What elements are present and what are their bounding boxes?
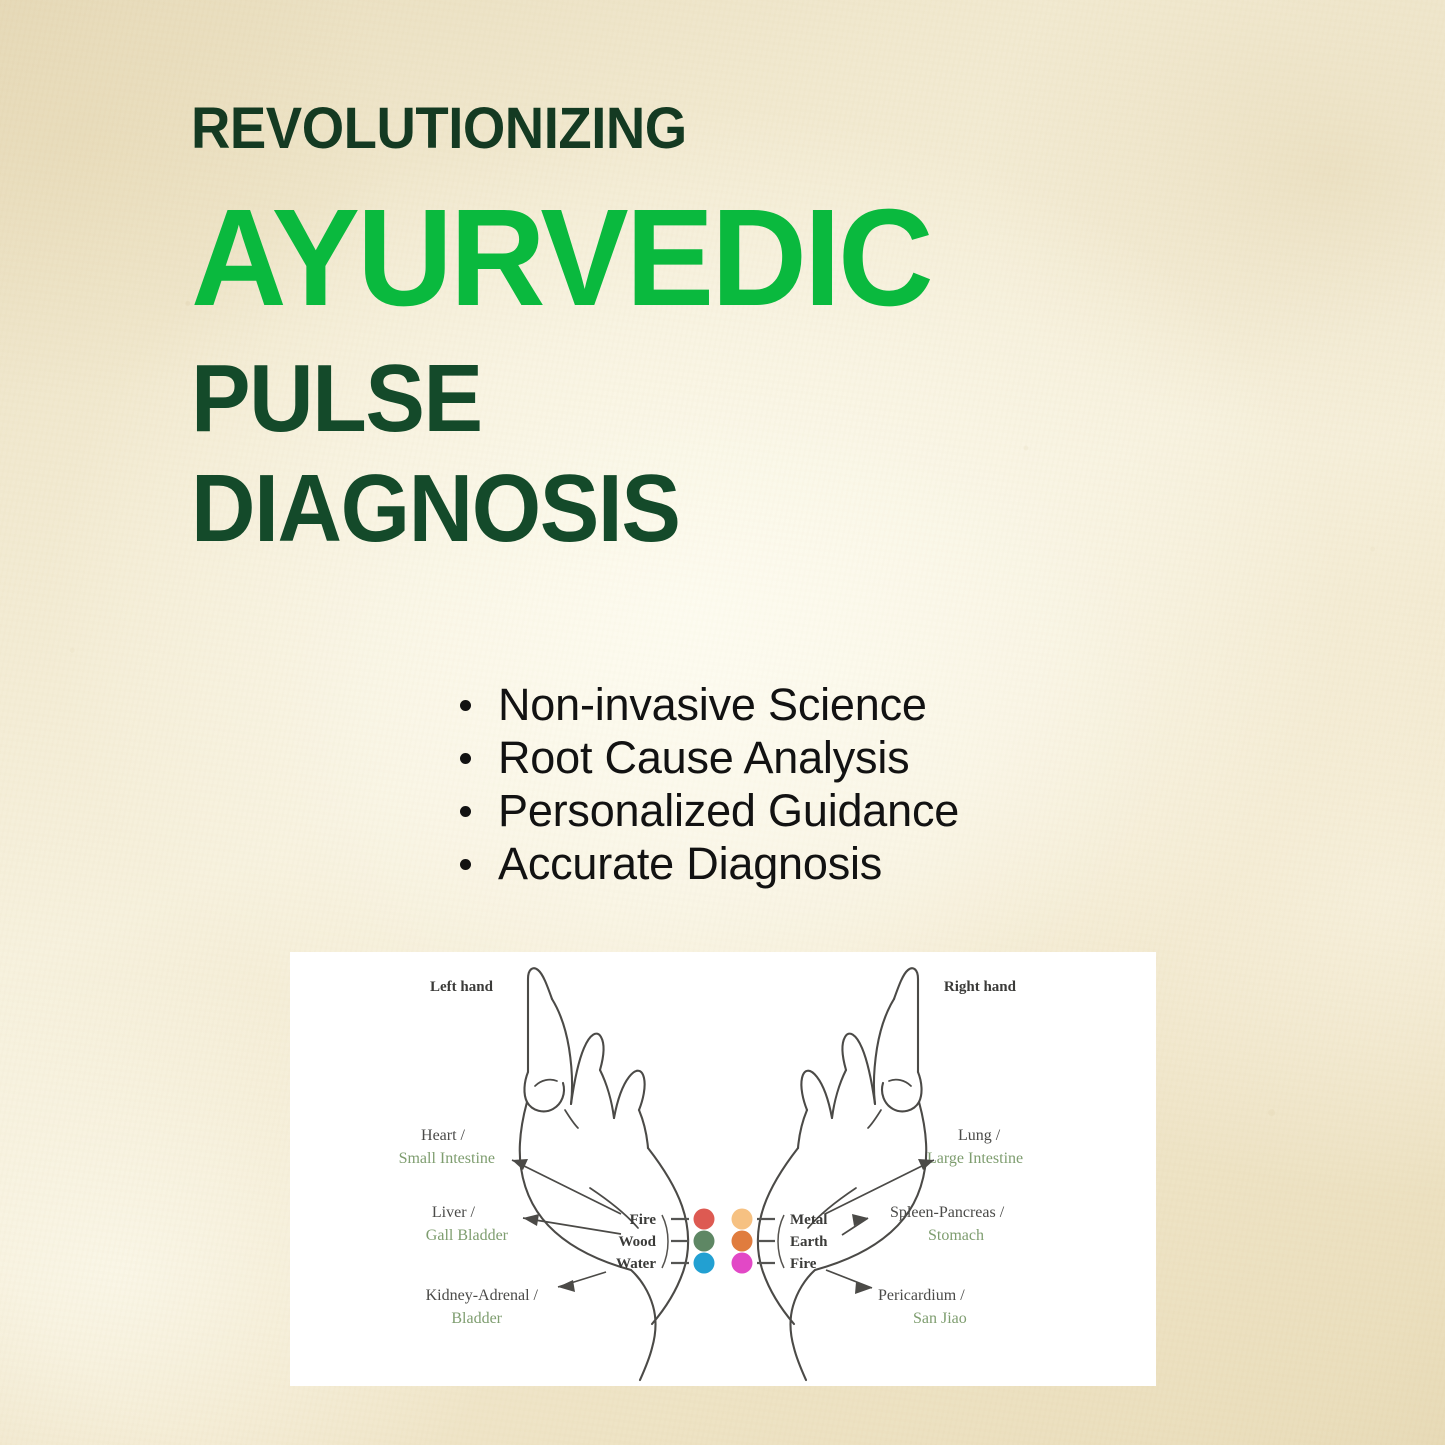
list-item: Personalized Guidance	[452, 784, 1212, 837]
list-item: Accurate Diagnosis	[452, 837, 1212, 890]
element-swatch-fire-icon	[694, 1209, 715, 1230]
right-element-label-metal: Metal	[790, 1212, 827, 1228]
right-hand-title: Right hand	[944, 979, 1017, 995]
right-element-legend: Metal Earth Fire	[732, 1209, 829, 1274]
headline-subtitle: PULSE DIAGNOSIS	[191, 348, 1028, 560]
left-organ-1-secondary: Small Intestine	[399, 1150, 495, 1167]
right-organ-labels: Lung / Large Intestine Spleen-Pancreas /…	[825, 1127, 1023, 1327]
left-element-label-wood: Wood	[618, 1234, 656, 1250]
headline-subtitle-line1: PULSE	[191, 345, 482, 452]
element-swatch-metal-icon	[732, 1209, 753, 1230]
right-element-label-fire: Fire	[790, 1256, 817, 1272]
right-organ-1-secondary: Large Intestine	[927, 1150, 1023, 1167]
headline-subtitle-line2: DIAGNOSIS	[191, 458, 1028, 560]
left-hand-title: Left hand	[430, 979, 494, 995]
bullet-dot-icon	[460, 753, 471, 764]
bullet-dot-icon	[460, 859, 471, 870]
right-organ-1-primary: Lung /	[958, 1127, 1001, 1144]
benefit-label: Personalized Guidance	[498, 785, 959, 836]
headline-block: REVOLUTIONIZING AYURVEDIC PULSE DIAGNOSI…	[191, 100, 1091, 560]
left-element-label-water: Water	[616, 1256, 656, 1272]
right-organ-2-primary: Spleen-Pancreas /	[890, 1204, 1005, 1221]
left-element-label-fire: Fire	[630, 1212, 657, 1228]
arrow-head-icon	[558, 1280, 575, 1292]
left-organ-3-secondary: Bladder	[451, 1310, 502, 1327]
left-organ-2-secondary: Gall Bladder	[426, 1227, 509, 1244]
poster-content: REVOLUTIONIZING AYURVEDIC PULSE DIAGNOSI…	[0, 0, 1445, 1445]
right-hand-illustration	[758, 968, 926, 1380]
benefit-label: Accurate Diagnosis	[498, 838, 882, 889]
left-element-legend: Fire Wood Water	[616, 1209, 714, 1274]
element-swatch-wood-icon	[694, 1231, 715, 1252]
list-item: Non-invasive Science	[452, 678, 1212, 731]
headline-hero: AYURVEDIC	[191, 194, 1055, 322]
list-item: Root Cause Analysis	[452, 731, 1212, 784]
element-swatch-fire-right-icon	[732, 1253, 753, 1274]
right-organ-3-primary: Pericardium /	[878, 1287, 965, 1304]
left-organ-3-primary: Kidney-Adrenal /	[426, 1287, 539, 1304]
hands-diagram-svg: Left hand Right hand Fire Wood Water	[290, 952, 1156, 1386]
arrow-head-icon	[523, 1214, 539, 1226]
element-swatch-water-icon	[694, 1253, 715, 1274]
right-element-label-earth: Earth	[790, 1234, 828, 1250]
benefit-label: Root Cause Analysis	[498, 732, 909, 783]
benefit-label: Non-invasive Science	[498, 679, 927, 730]
pulse-diagnosis-diagram-card: Left hand Right hand Fire Wood Water	[290, 952, 1156, 1386]
bullet-dot-icon	[460, 806, 471, 817]
right-organ-3-secondary: San Jiao	[913, 1310, 967, 1327]
left-hand-illustration	[520, 968, 688, 1380]
left-organ-labels: Heart / Small Intestine Liver / Gall Bla…	[399, 1127, 621, 1327]
left-organ-2-primary: Liver /	[432, 1204, 476, 1221]
element-swatch-earth-icon	[732, 1231, 753, 1252]
benefits-list: Non-invasive Science Root Cause Analysis…	[452, 678, 1212, 890]
headline-kicker: REVOLUTIONIZING	[191, 100, 1037, 158]
left-organ-1-primary: Heart /	[421, 1127, 466, 1144]
right-organ-2-secondary: Stomach	[928, 1227, 984, 1244]
bullet-dot-icon	[460, 700, 471, 711]
